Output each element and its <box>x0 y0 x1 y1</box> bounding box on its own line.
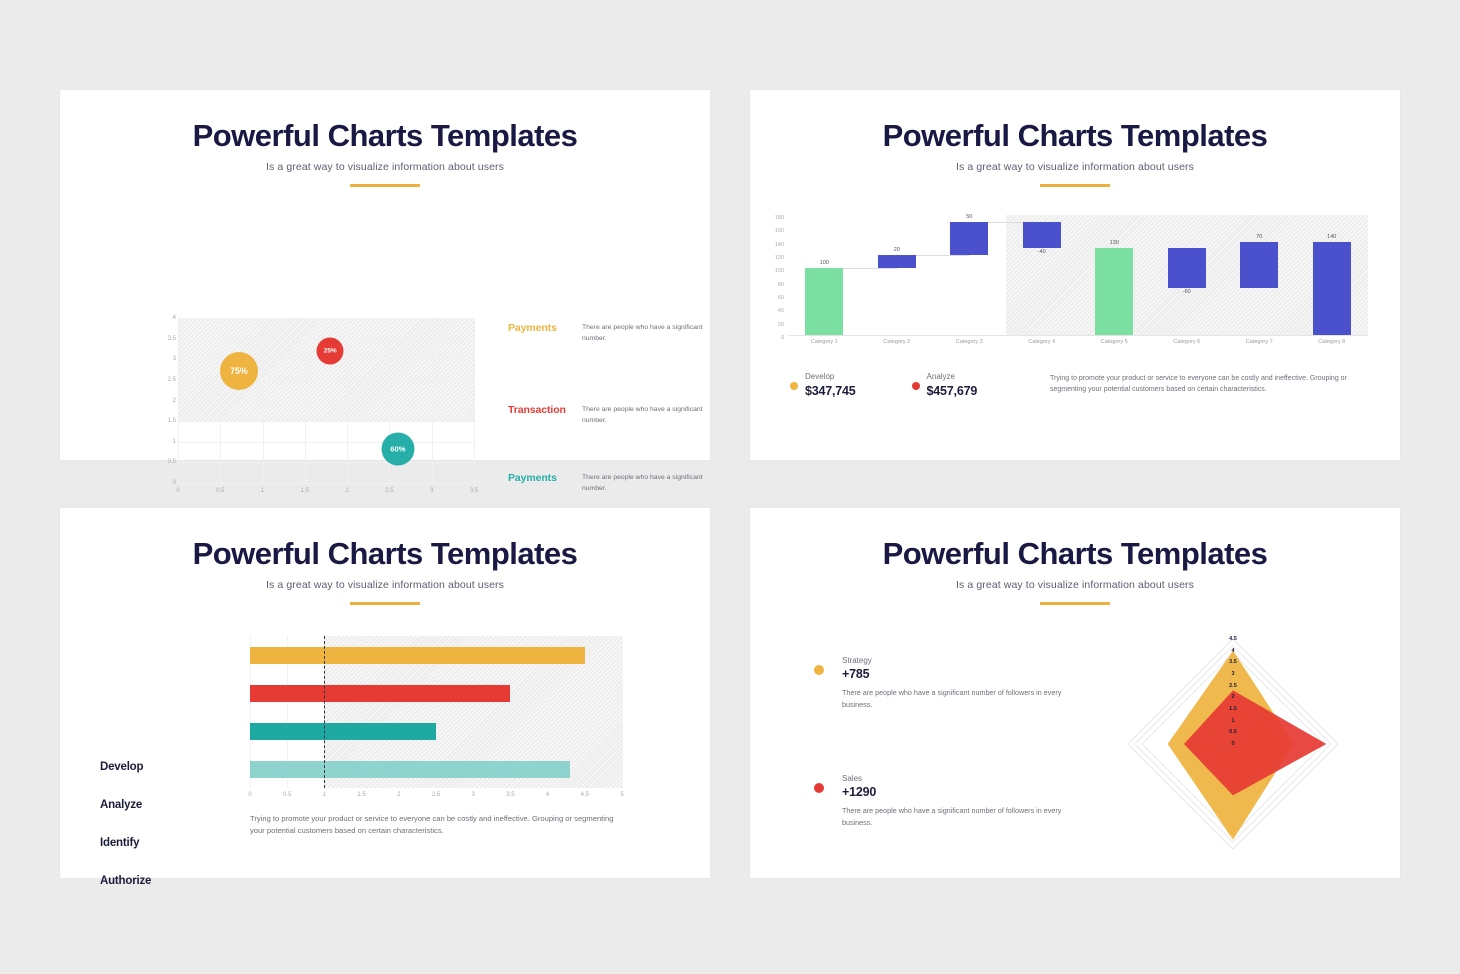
bar-value-label: 70 <box>1256 234 1262 240</box>
bar-category-label: Authorize <box>100 875 240 887</box>
y-axis-tick: 180 <box>775 215 784 221</box>
legend-item-label: Payments <box>508 322 582 344</box>
page-subtitle: Is a great way to visualize information … <box>750 161 1400 173</box>
x-axis-tick: 0.5 <box>283 792 291 798</box>
y-axis-tick: 3 <box>173 356 176 362</box>
legend-item-description: There are people who have a significant … <box>582 404 718 426</box>
horizontal-bar-chart: 00.511.522.533.544.55 DevelopAnalyzeIden… <box>60 628 710 808</box>
x-axis-tick: 5 <box>620 792 623 798</box>
waterfall-note: Trying to promote your product or servic… <box>1050 373 1350 396</box>
page-title: Powerful Charts Templates <box>60 118 710 154</box>
threshold-line <box>324 636 325 788</box>
slide-waterfall-chart: Powerful Charts Templates Is a great way… <box>750 90 1400 460</box>
grid-line-horizontal <box>178 401 474 402</box>
slide-bubble-chart: Powerful Charts Templates Is a great way… <box>60 90 710 460</box>
x-axis-category-label: Category 1 <box>811 339 838 345</box>
legend-item-label: Develop <box>805 372 856 381</box>
grid-line-horizontal <box>178 483 474 484</box>
bar-segment <box>250 723 436 740</box>
slide-header: Powerful Charts Templates Is a great way… <box>750 508 1400 605</box>
x-axis-tick: 3 <box>430 488 433 494</box>
slide-horizontal-bar-chart: Powerful Charts Templates Is a great way… <box>60 508 710 878</box>
grid-line-vertical <box>474 318 475 483</box>
x-axis-tick: 0 <box>176 488 179 494</box>
legend-item-description: There are people who have a significant … <box>842 687 1076 710</box>
waterfall-plot-area: 1002050-40130-6070140 <box>788 215 1368 335</box>
waterfall-x-axis: Category 1Category 2Category 3Category 4… <box>788 337 1368 351</box>
y-axis-tick: 140 <box>775 242 784 248</box>
bubble-data-point: 60% <box>381 433 414 466</box>
legend-item-label: Payments <box>508 472 582 494</box>
page-subtitle: Is a great way to visualize information … <box>750 579 1400 591</box>
legend-item-description: There are people who have a significant … <box>582 472 718 494</box>
title-divider <box>350 602 420 605</box>
page-subtitle: Is a great way to visualize information … <box>60 579 710 591</box>
waterfall-chart: 020406080100120140160180 1002050-40130-6… <box>750 215 1400 355</box>
legend-item-value: +1290 <box>842 785 1076 799</box>
bubble-x-axis: 00.511.522.533.5 <box>178 488 474 500</box>
slide-header: Powerful Charts Templates Is a great way… <box>60 508 710 605</box>
bar-value-label: 100 <box>820 260 829 266</box>
bubble-y-axis: 00.511.522.533.54 <box>160 318 176 483</box>
x-axis-tick: 2.5 <box>385 488 393 494</box>
grid-line-horizontal <box>178 442 474 443</box>
y-axis-tick: 2.5 <box>168 377 176 383</box>
y-axis-tick: 0 <box>781 335 784 341</box>
waterfall-baseline <box>788 335 1368 336</box>
x-axis-tick: 0.5 <box>216 488 224 494</box>
x-axis-tick: 1.5 <box>357 792 365 798</box>
y-axis-tick: 2 <box>173 398 176 404</box>
x-axis-category-label: Category 6 <box>1173 339 1200 345</box>
legend-item-description: There are people who have a significant … <box>582 322 718 344</box>
x-axis-category-label: Category 4 <box>1028 339 1055 345</box>
y-axis-tick: 3.5 <box>168 336 176 342</box>
bar-segment <box>250 761 570 778</box>
legend-color-dot <box>814 783 824 793</box>
radar-chart: 00.511.522.533.544.5 <box>1108 626 1358 856</box>
bar-value-label: 20 <box>894 247 900 253</box>
bar-plot-area <box>250 636 622 788</box>
x-axis-category-label: Category 8 <box>1318 339 1345 345</box>
bar-x-axis: 00.511.522.533.544.55 <box>250 792 622 804</box>
legend-item: TransactionThere are people who have a s… <box>508 404 718 426</box>
page-title: Powerful Charts Templates <box>60 536 710 572</box>
legend-color-dot <box>790 382 798 390</box>
bubble-data-point: 75% <box>220 352 258 390</box>
page-title: Powerful Charts Templates <box>750 118 1400 154</box>
x-axis-tick: 4.5 <box>581 792 589 798</box>
grid-line-vertical <box>622 636 623 788</box>
y-axis-tick: 4 <box>173 315 176 321</box>
legend-item-description: There are people who have a significant … <box>842 805 1076 828</box>
y-axis-tick: 120 <box>775 255 784 261</box>
x-axis-tick: 1.5 <box>301 488 309 494</box>
y-axis-tick: 40 <box>778 308 784 314</box>
waterfall-bar <box>1095 248 1133 335</box>
x-axis-tick: 2 <box>397 792 400 798</box>
bar-value-label: 50 <box>966 214 972 220</box>
bar-value-label: 130 <box>1110 240 1119 246</box>
waterfall-bar <box>878 255 916 268</box>
legend-color-dot <box>912 382 920 390</box>
legend-item: Develop$347,745 <box>790 372 856 398</box>
x-axis-category-label: Category 3 <box>956 339 983 345</box>
x-axis-tick: 4 <box>546 792 549 798</box>
grid-line-horizontal <box>178 462 474 463</box>
waterfall-bar <box>1023 222 1061 249</box>
legend-item-value: +785 <box>842 667 1076 681</box>
bubble-plot-area: 75%25%60% <box>178 318 474 483</box>
x-axis-category-label: Category 5 <box>1101 339 1128 345</box>
y-axis-tick: 100 <box>775 268 784 274</box>
x-axis-category-label: Category 2 <box>883 339 910 345</box>
bar-category-label: Develop <box>100 761 240 773</box>
legend-item-label: Strategy <box>842 656 1076 665</box>
x-axis-category-label: Category 7 <box>1246 339 1273 345</box>
bar-category-label: Analyze <box>100 799 240 811</box>
x-axis-tick: 2.5 <box>432 792 440 798</box>
y-axis-tick: 20 <box>778 322 784 328</box>
radar-svg <box>1108 626 1358 856</box>
legend-item: PaymentsThere are people who have a sign… <box>508 472 718 494</box>
x-axis-tick: 1 <box>323 792 326 798</box>
y-axis-tick: 0.5 <box>168 459 176 465</box>
bar-segment <box>250 685 510 702</box>
bar-value-label: -40 <box>1038 249 1046 255</box>
waterfall-bar <box>950 222 988 255</box>
y-axis-tick: 0 <box>173 480 176 486</box>
legend-item-label: Sales <box>842 774 1076 783</box>
legend-item-value: $347,745 <box>805 384 856 398</box>
x-axis-tick: 1 <box>261 488 264 494</box>
y-axis-tick: 1 <box>173 439 176 445</box>
legend-item-value: $457,679 <box>927 384 978 398</box>
x-axis-tick: 2 <box>345 488 348 494</box>
legend-item-label: Analyze <box>927 372 978 381</box>
slide-radar-chart: Powerful Charts Templates Is a great way… <box>750 508 1400 878</box>
waterfall-bar <box>1240 242 1278 289</box>
y-axis-tick: 160 <box>775 228 784 234</box>
grid-line-vertical <box>585 636 586 788</box>
y-axis-tick: 1.5 <box>168 418 176 424</box>
legend-item: Sales+1290There are people who have a si… <box>806 774 1076 828</box>
slide-header: Powerful Charts Templates Is a great way… <box>60 90 710 187</box>
title-divider <box>1040 602 1110 605</box>
grid-line-horizontal <box>178 318 474 319</box>
page-subtitle: Is a great way to visualize information … <box>60 161 710 173</box>
bar-category-label: Identify <box>100 837 240 849</box>
waterfall-bar <box>805 268 843 335</box>
page-title: Powerful Charts Templates <box>750 536 1400 572</box>
legend-color-dot <box>814 665 824 675</box>
x-axis-tick: 3.5 <box>506 792 514 798</box>
x-axis-tick: 3 <box>472 792 475 798</box>
x-axis-tick: 0 <box>248 792 251 798</box>
legend-item: Strategy+785There are people who have a … <box>806 656 1076 710</box>
y-axis-tick: 60 <box>778 295 784 301</box>
bar-value-label: -60 <box>1183 289 1191 295</box>
legend-item: PaymentsThere are people who have a sign… <box>508 322 718 344</box>
waterfall-bar <box>1168 248 1206 288</box>
bar-segment <box>250 647 585 664</box>
waterfall-y-axis: 020406080100120140160180 <box>762 215 784 335</box>
waterfall-legend: Develop$347,745Analyze$457,679 <box>790 372 977 398</box>
title-divider <box>1040 184 1110 187</box>
title-divider <box>350 184 420 187</box>
legend-item: Analyze$457,679 <box>912 372 978 398</box>
grid-line-horizontal <box>178 421 474 422</box>
x-axis-tick: 3.5 <box>470 488 478 494</box>
bubble-data-point: 25% <box>317 338 344 365</box>
waterfall-bar <box>1313 242 1351 335</box>
bar-value-label: 140 <box>1327 234 1336 240</box>
y-axis-tick: 80 <box>778 282 784 288</box>
legend-item-label: Transaction <box>508 404 582 426</box>
bar-note: Trying to promote your product or servic… <box>250 813 630 837</box>
slide-deck: Powerful Charts Templates Is a great way… <box>0 0 1460 974</box>
slide-header: Powerful Charts Templates Is a great way… <box>750 90 1400 187</box>
